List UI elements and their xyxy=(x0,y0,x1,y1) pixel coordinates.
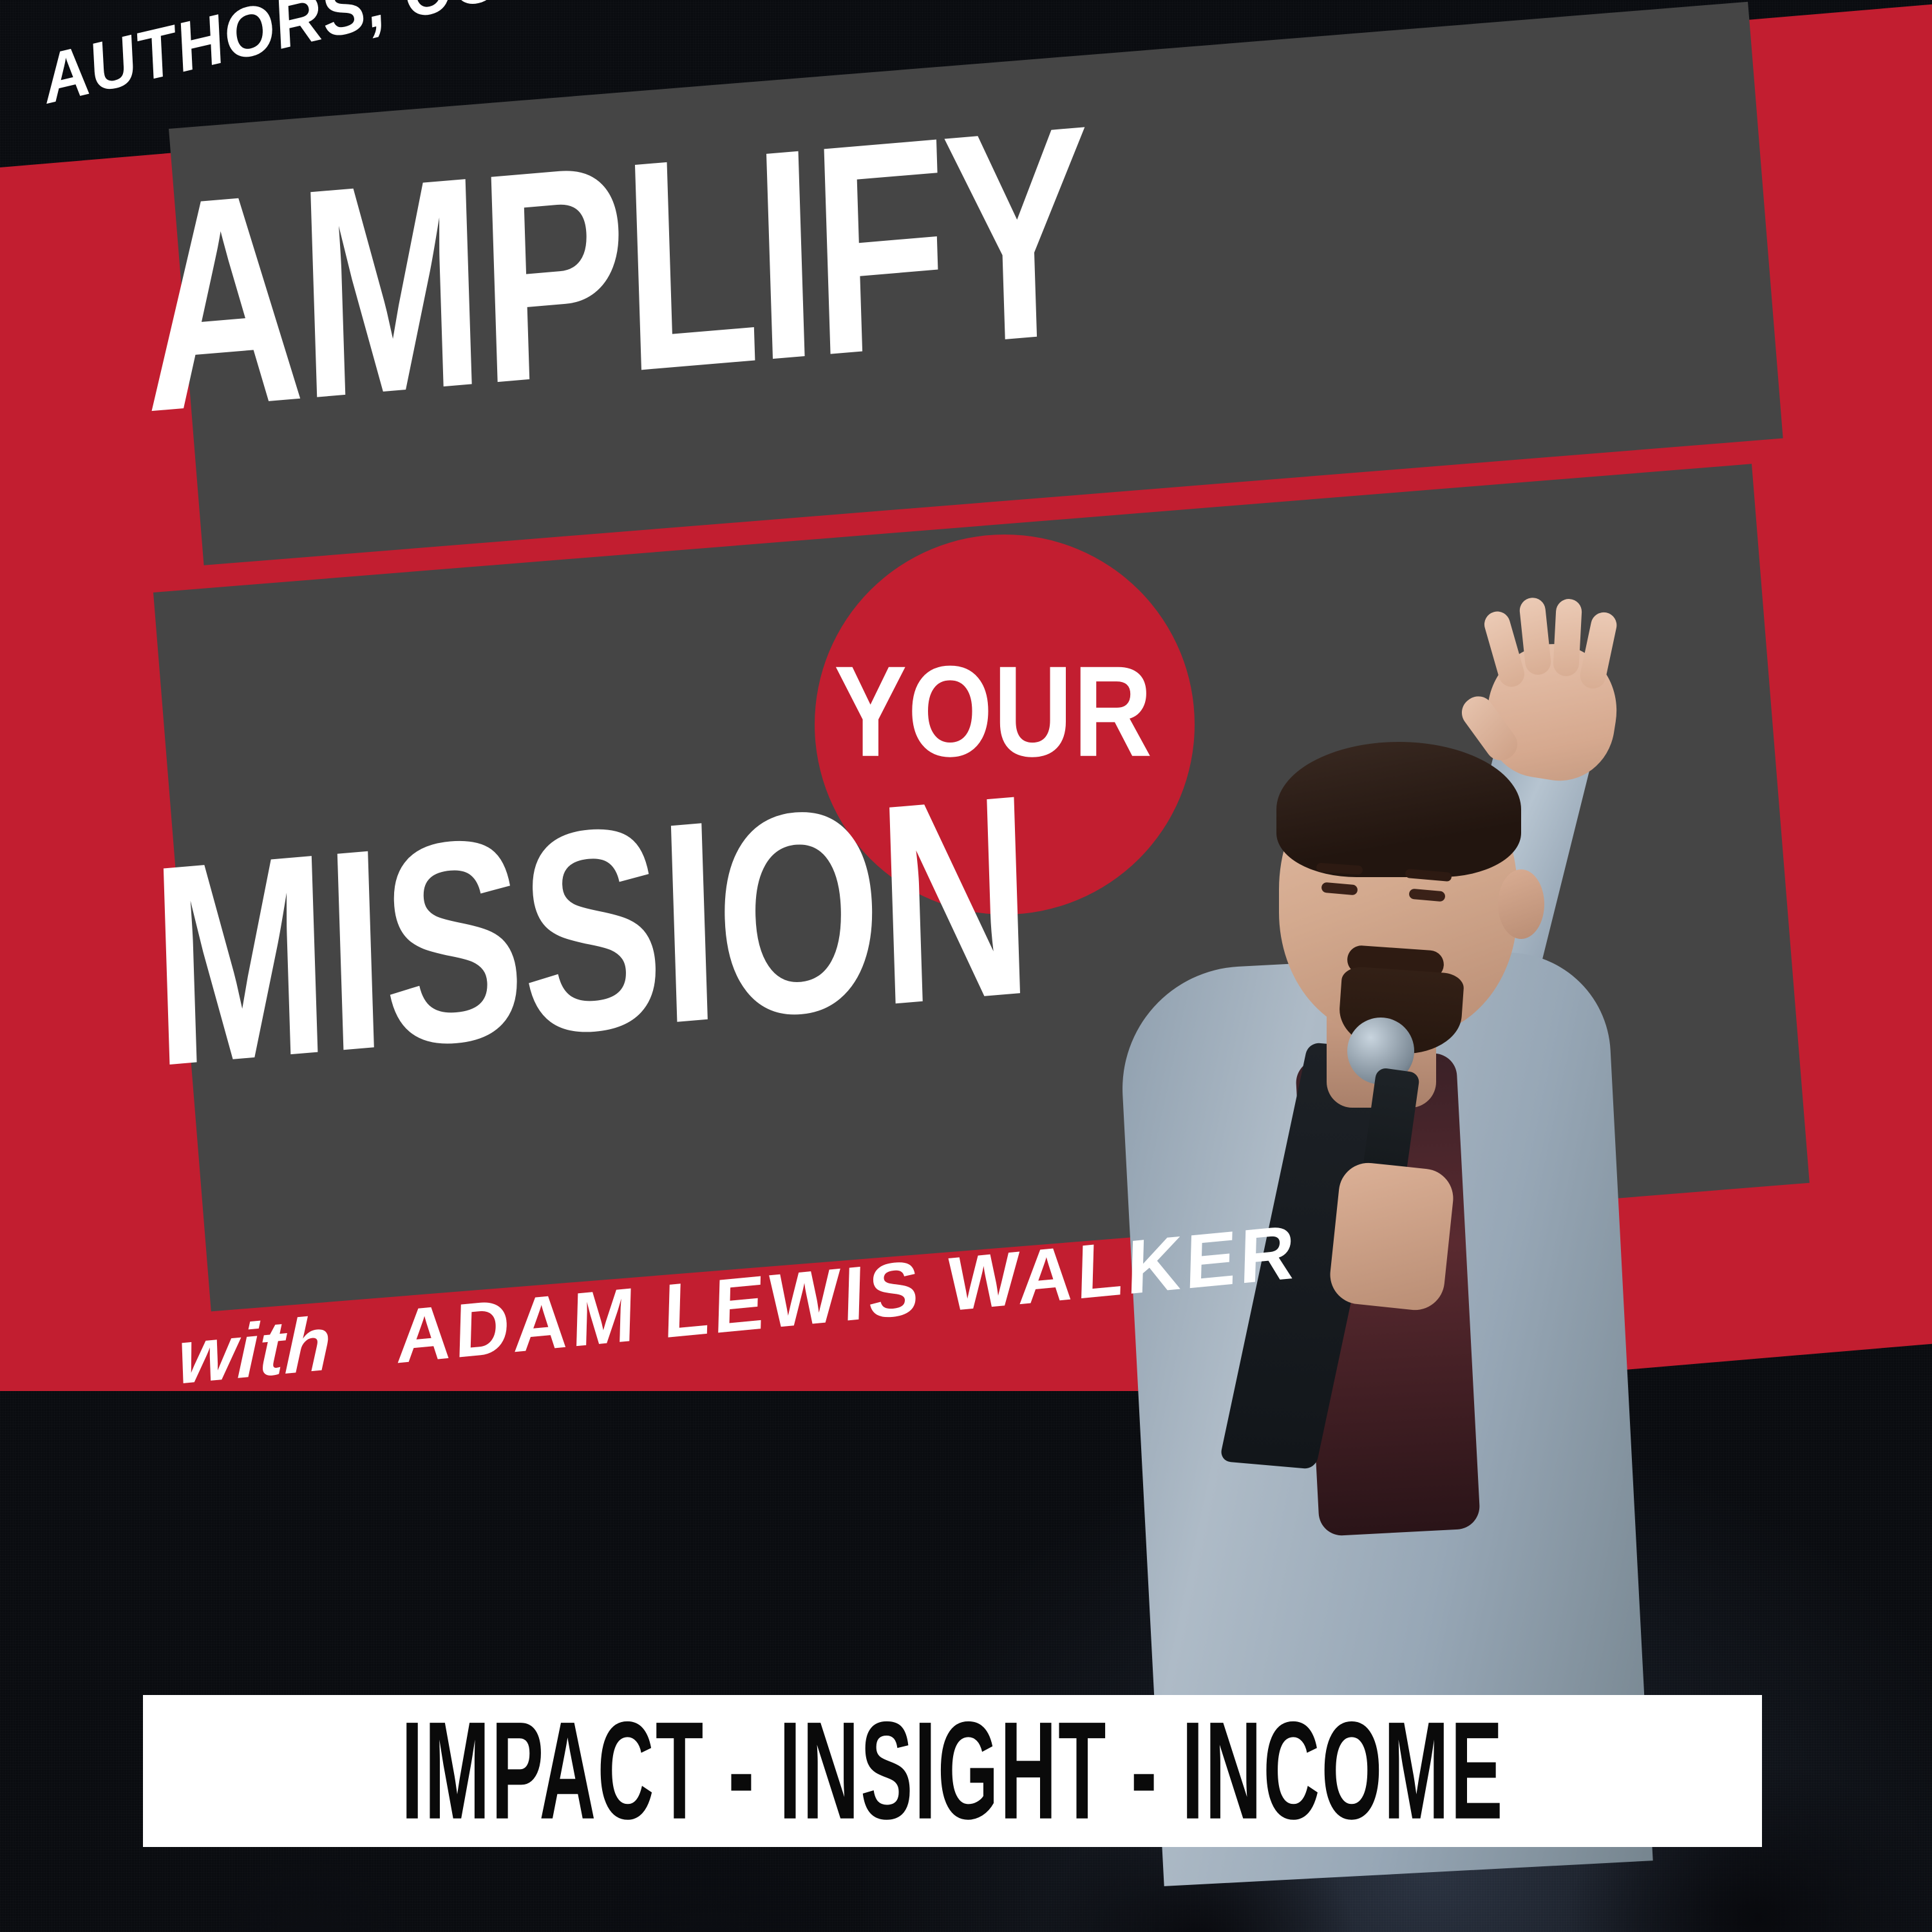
podcast-cover-art: AUTHORS, COACHES & SPEAKERS... AMPLIFY Y… xyxy=(0,0,1932,1932)
tagline-banner: IMPACT - INSIGHT - INCOME xyxy=(143,1695,1762,1847)
hand-holding-microphone xyxy=(1327,1160,1456,1312)
finger-icon xyxy=(1553,598,1582,677)
tagline-text: IMPACT - INSIGHT - INCOME xyxy=(401,1691,1504,1851)
byline-prefix: with xyxy=(176,1300,333,1401)
